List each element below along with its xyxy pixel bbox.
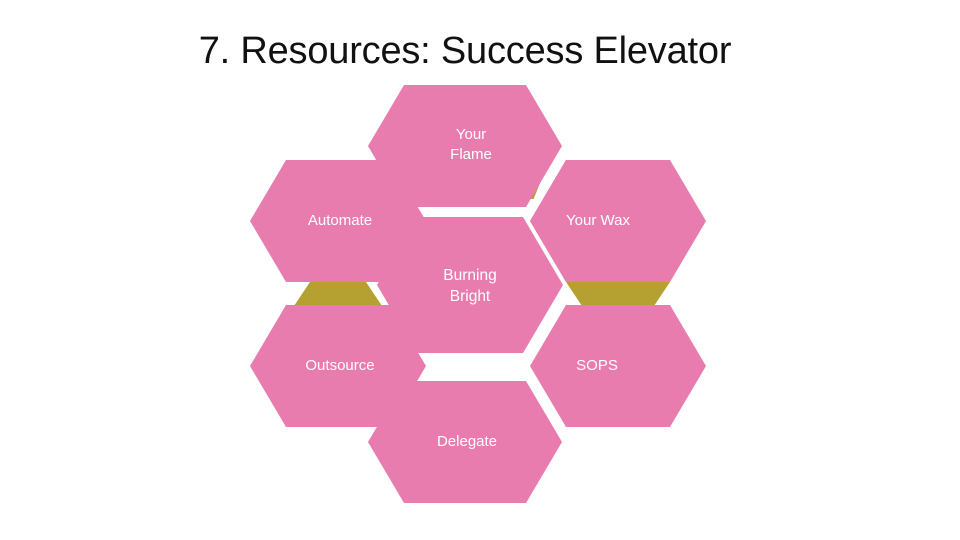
hex-label-outsource: Outsource <box>305 357 374 374</box>
hex-label-your-flame-line2: Flame <box>450 146 492 163</box>
hex-label-delegate: Delegate <box>437 433 497 450</box>
hex-label-sops: SOPS <box>576 357 618 374</box>
slide-canvas: 7. Resources: Success Elevator Your Flam… <box>0 0 960 540</box>
hex-label-burning-bright-line1: Burning <box>443 267 496 284</box>
hexagon-diagram: Your Flame Your Wax SOPS Delegate Outsou… <box>0 0 960 540</box>
hex-node-your-wax[interactable]: Your Wax <box>530 160 706 282</box>
hex-label-automate: Automate <box>308 212 372 229</box>
hex-node-sops[interactable]: SOPS <box>530 305 706 427</box>
hex-label-your-flame-line1: Your <box>456 126 486 143</box>
hex-shape-sops[interactable] <box>530 305 706 427</box>
hex-label-your-wax: Your Wax <box>566 212 630 229</box>
hex-label-burning-bright-line2: Bright <box>450 288 491 305</box>
